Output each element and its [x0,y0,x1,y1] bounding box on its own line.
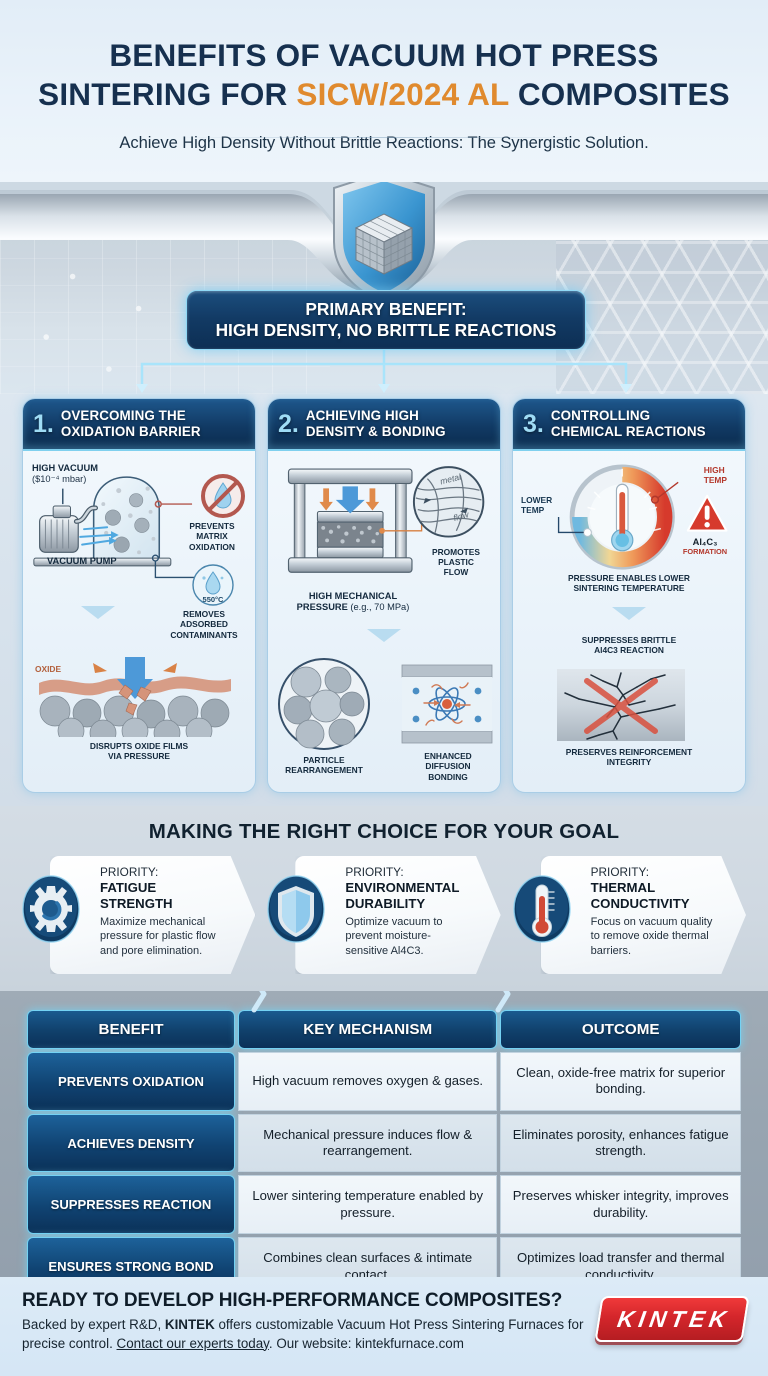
contact-experts-link[interactable]: Contact our experts today [117,1336,269,1351]
column-3-title-line-1: CONTROLLING [551,408,650,423]
crack-suppression-icon [557,669,685,741]
column-1-header: 1. OVERCOMING THE OXIDATION BARRIER [23,399,255,451]
kintek-logo[interactable]: KINTEK [598,1296,746,1342]
thermometer-icon [513,874,571,944]
svg-text:550°C: 550°C [203,595,225,604]
promotes-plastic-flow-caption: PROMOTES PLASTIC FLOW [416,547,496,577]
table-header-outcome: OUTCOME [500,1010,741,1049]
choice-card-1-body: PRIORITY: FATIGUE STRENGTH Maximize mech… [50,856,255,974]
high-vacuum-label-group: HIGH VACUUM ($10⁻⁴ mbar) [32,463,98,484]
particle-rearrangement-caption: PARTICLE REARRANGEMENT [268,755,380,776]
choice-section: MAKING THE RIGHT CHOICE FOR YOUR GOAL PR… [0,806,768,991]
column-3-body: LOWER TEMP HIGH TEMP Al₄C₃ FORMATION PRE… [513,451,745,792]
column-1-oxidation-barrier[interactable]: 1. OVERCOMING THE OXIDATION BARRIER [22,398,256,793]
choice-1-name-line-2: STRENGTH [100,896,225,912]
column-1-flow-arrow [81,606,115,619]
pressure-enables-line-1: PRESSURE ENABLES LOWER [513,573,745,583]
choice-3-name-line-2: CONDUCTIVITY [591,896,716,912]
suppresses-brittle-caption: SUPPRESSES BRITTLE Al4C3 REACTION [513,635,745,656]
header: BENEFITS OF VACUUM HOT PRESS SINTERING F… [0,0,768,182]
column-2-number: 2. [278,412,299,437]
table-head: BENEFIT KEY MECHANISM OUTCOME [27,1010,741,1049]
footer-body: Backed by expert R&D, KINTEK offers cust… [22,1316,587,1353]
header-divider [180,137,588,138]
promotes-line-3: FLOW [416,567,496,577]
prevents-line-2: MATRIX [173,531,251,541]
choice-2-priority-label: PRIORITY: [345,865,470,880]
choice-card-fatigue-strength[interactable]: PRIORITY: FATIGUE STRENGTH Maximize mech… [22,856,255,976]
choice-1-name: FATIGUE STRENGTH [100,880,225,912]
al4c3-warning-label: Al₄C₃ FORMATION [669,537,741,556]
prevents-line-3: OXIDATION [173,542,251,552]
summary-table-section: BENEFIT KEY MECHANISM OUTCOME PREVENTS O… [0,991,768,1277]
primary-benefit-line-2: HIGH DENSITY, NO BRITTLE REACTIONS [216,320,557,341]
hero-band: PRIMARY BENEFIT: HIGH DENSITY, NO BRITTL… [0,182,768,394]
row-2-benefit: ACHIEVES DENSITY [27,1114,235,1173]
choice-card-thermal-conductivity[interactable]: PRIORITY: THERMAL CONDUCTIVITY Focus on … [513,856,746,976]
column-3-number: 3. [523,412,544,437]
kintek-logo-text: KINTEK [594,1296,749,1342]
high-temp-line-1: HIGH [704,465,727,475]
choice-card-2-body: PRIORITY: ENVIRONMENTAL DURABILITY Optim… [295,856,500,974]
column-2-header: 2. ACHIEVING HIGH DENSITY & BONDING [268,399,500,451]
particle-rearrangement-icon [276,656,372,752]
preserves-line-1: PRESERVES REINFORCEMENT [513,747,745,757]
column-1-title-line-2: OXIDATION BARRIER [61,424,201,439]
removes-line-1: REMOVES [155,609,253,619]
high-vacuum-value: ($10⁻⁴ mbar) [32,474,98,485]
column-2-title-line-1: ACHIEVING HIGH [306,408,419,423]
prevents-line-1: PREVENTS [173,521,251,531]
disrupts-oxide-caption: DISRUPTS OXIDE FILMS VIA PRESSURE [23,741,255,762]
column-1-body: HIGH VACUUM ($10⁻⁴ mbar) VACUUM PUMP PRE… [23,451,255,792]
footer-brand: KINTEK [165,1317,215,1332]
table-header-row: BENEFIT KEY MECHANISM OUTCOME [27,1010,741,1049]
disrupts-line-1: DISRUPTS OXIDE FILMS [23,741,255,751]
title-prefix: SINTERING FOR [38,76,296,112]
row-1-benefit: PREVENTS OXIDATION [27,1052,235,1111]
promotes-line-1: PROMOTES [416,547,496,557]
suppress-line-1: SUPPRESSES BRITTLE [513,635,745,645]
row-2-outcome: Eliminates porosity, enhances fatigue st… [500,1114,741,1173]
column-1-number: 1. [33,412,54,437]
three-column-section: 1. OVERCOMING THE OXIDATION BARRIER [0,394,768,806]
column-3-flow-arrow [612,607,646,620]
high-temp-label: HIGH TEMP [704,465,727,485]
diffusion-line-3: BONDING [396,772,500,782]
row-3-benefit: SUPPRESSES REACTION [27,1175,235,1234]
particle-line-2: REARRANGEMENT [268,765,380,775]
lower-temp-line-1: LOWER [521,495,552,505]
pressure-enables-line-2: SINTERING TEMPERATURE [513,583,745,593]
diffusion-line-1: ENHANCED [396,751,500,761]
column-3-chemical-reactions[interactable]: 3. CONTROLLING CHEMICAL REACTIONS [512,398,746,793]
table-header-benefit: BENEFIT [27,1010,235,1049]
vacuum-pump-label: VACUUM PUMP [47,556,117,567]
choice-3-priority-label: PRIORITY: [591,865,716,880]
high-temp-line-2: TEMP [704,475,727,485]
row-3-mechanism: Lower sintering temperature enabled by p… [238,1175,497,1234]
choice-1-priority-label: PRIORITY: [100,865,225,880]
choice-1-description: Maximize mechanical pressure for plastic… [100,915,225,958]
footer-headline: READY TO DEVELOP HIGH-PERFORMANCE COMPOS… [22,1290,587,1312]
choice-card-environmental-durability[interactable]: PRIORITY: ENVIRONMENTAL DURABILITY Optim… [267,856,500,976]
column-3-title: CONTROLLING CHEMICAL REACTIONS [551,408,706,439]
disrupts-line-2: VIA PRESSURE [23,751,255,761]
column-2-title-line-2: DENSITY & BONDING [306,424,446,439]
preserves-reinforcement-caption: PRESERVES REINFORCEMENT INTEGRITY [513,747,745,768]
removes-contaminants-caption: REMOVES ADSORBED CONTAMINANTS [155,609,253,640]
primary-benefit-text: PRIMARY BENEFIT: HIGH DENSITY, NO BRITTL… [216,299,557,341]
column-2-density-bonding[interactable]: 2. ACHIEVING HIGH DENSITY & BONDING [267,398,501,793]
choice-card-3-body: PRIORITY: THERMAL CONDUCTIVITY Focus on … [541,856,746,974]
choice-cards-row: PRIORITY: FATIGUE STRENGTH Maximize mech… [0,856,768,976]
connector-lines [0,350,768,394]
choice-3-name: THERMAL CONDUCTIVITY [591,880,716,912]
diffusion-line-2: DIFFUSION [396,761,500,771]
diffusion-bonding-caption: ENHANCED DIFFUSION BONDING [396,751,500,782]
column-3-title-line-2: CHEMICAL REACTIONS [551,424,706,439]
page-title: BENEFITS OF VACUUM HOT PRESS SINTERING F… [30,36,738,114]
table-header-key-mechanism: KEY MECHANISM [238,1010,497,1049]
row-2-mechanism: Mechanical pressure induces flow & rearr… [238,1114,497,1173]
pressure-value: (e.g., 70 MPa) [348,602,410,612]
column-2-title: ACHIEVING HIGH DENSITY & BONDING [306,408,446,439]
pressure-line-2: PRESSURE (e.g., 70 MPa) [270,602,436,613]
shield-icon [267,874,325,944]
primary-benefit-banner: PRIMARY BENEFIT: HIGH DENSITY, NO BRITTL… [186,290,586,350]
footer-body-part-1: Backed by expert R&D, [22,1317,165,1332]
al4c3-formula: Al₄C₃ [669,537,741,548]
choice-1-name-line-1: FATIGUE [100,880,225,896]
table-row: SUPPRESSES REACTION Lower sintering temp… [27,1175,741,1234]
lower-temp-label: LOWER TEMP [521,495,552,515]
preserves-line-2: INTEGRITY [513,757,745,767]
table-row: PREVENTS OXIDATION High vacuum removes o… [27,1052,741,1111]
al4c3-formation: FORMATION [669,548,741,556]
primary-benefit-line-1: PRIMARY BENEFIT: [216,299,557,320]
promotes-line-2: PLASTIC [416,557,496,567]
footer: READY TO DEVELOP HIGH-PERFORMANCE COMPOS… [0,1277,768,1376]
particle-line-1: PARTICLE [268,755,380,765]
removes-line-2: ADSORBED [155,619,253,629]
column-1-title: OVERCOMING THE OXIDATION BARRIER [61,408,201,439]
title-line-1: BENEFITS OF VACUUM HOT PRESS [30,36,738,75]
choice-2-description: Optimize vacuum to prevent moisture-sens… [345,915,470,958]
title-accent: SiCw/2024 Al [296,76,508,112]
footer-text-block: READY TO DEVELOP HIGH-PERFORMANCE COMPOS… [22,1290,587,1353]
removes-line-3: CONTAMINANTS [155,630,253,640]
high-vacuum-label: HIGH VACUUM [32,463,98,474]
gear-icon [22,874,80,944]
column-3-header: 3. CONTROLLING CHEMICAL REACTIONS [513,399,745,451]
diffusion-bonding-icon [400,663,494,745]
summary-table: BENEFIT KEY MECHANISM OUTCOME PREVENTS O… [24,1007,744,1299]
row-1-mechanism: High vacuum removes oxygen & gases. [238,1052,497,1111]
droplet-temperature-icon: 550°C [191,563,235,607]
pressure-enables-caption: PRESSURE ENABLES LOWER SINTERING TEMPERA… [513,573,745,594]
choice-3-name-line-1: THERMAL [591,880,716,896]
row-1-outcome: Clean, oxide-free matrix for superior bo… [500,1052,741,1111]
choice-2-name-line-2: DURABILITY [345,896,470,912]
footer-body-part-3: . Our website: kintekfurnace.com [269,1336,464,1351]
choice-2-name-line-1: ENVIRONMENTAL [345,880,470,896]
lower-temp-line-2: TEMP [521,505,552,515]
pressure-bold: PRESSURE [297,602,348,612]
choice-3-description: Focus on vacuum quality to remove oxide … [591,915,716,958]
column-2-flow-arrow [367,629,401,642]
pressure-line-1: HIGH MECHANICAL [270,591,436,602]
column-1-title-line-1: OVERCOMING THE [61,408,186,423]
title-suffix: COMPOSITES [509,76,730,112]
prevents-oxidation-caption: PREVENTS MATRIX OXIDATION [173,521,251,552]
high-mechanical-pressure-caption: HIGH MECHANICAL PRESSURE (e.g., 70 MPa) [270,591,436,613]
title-line-2: SINTERING FOR SiCw/2024 Al COMPOSITES [30,75,738,114]
suppress-line-2: Al4C3 REACTION [513,645,745,655]
table-body: PREVENTS OXIDATION High vacuum removes o… [27,1052,741,1296]
choice-2-name: ENVIRONMENTAL DURABILITY [345,880,470,912]
column-2-body: metal flow PROMOTES PLASTIC FLOW HIGH ME… [268,451,500,792]
oxide-film-disruption-diagram [37,657,233,737]
no-water-icon [200,473,246,519]
row-3-outcome: Preserves whisker integrity, improves du… [500,1175,741,1234]
table-row: ACHIEVES DENSITY Mechanical pressure ind… [27,1114,741,1173]
choice-section-title: MAKING THE RIGHT CHOICE FOR YOUR GOAL [0,820,768,844]
oxide-label: OXIDE [35,665,61,675]
